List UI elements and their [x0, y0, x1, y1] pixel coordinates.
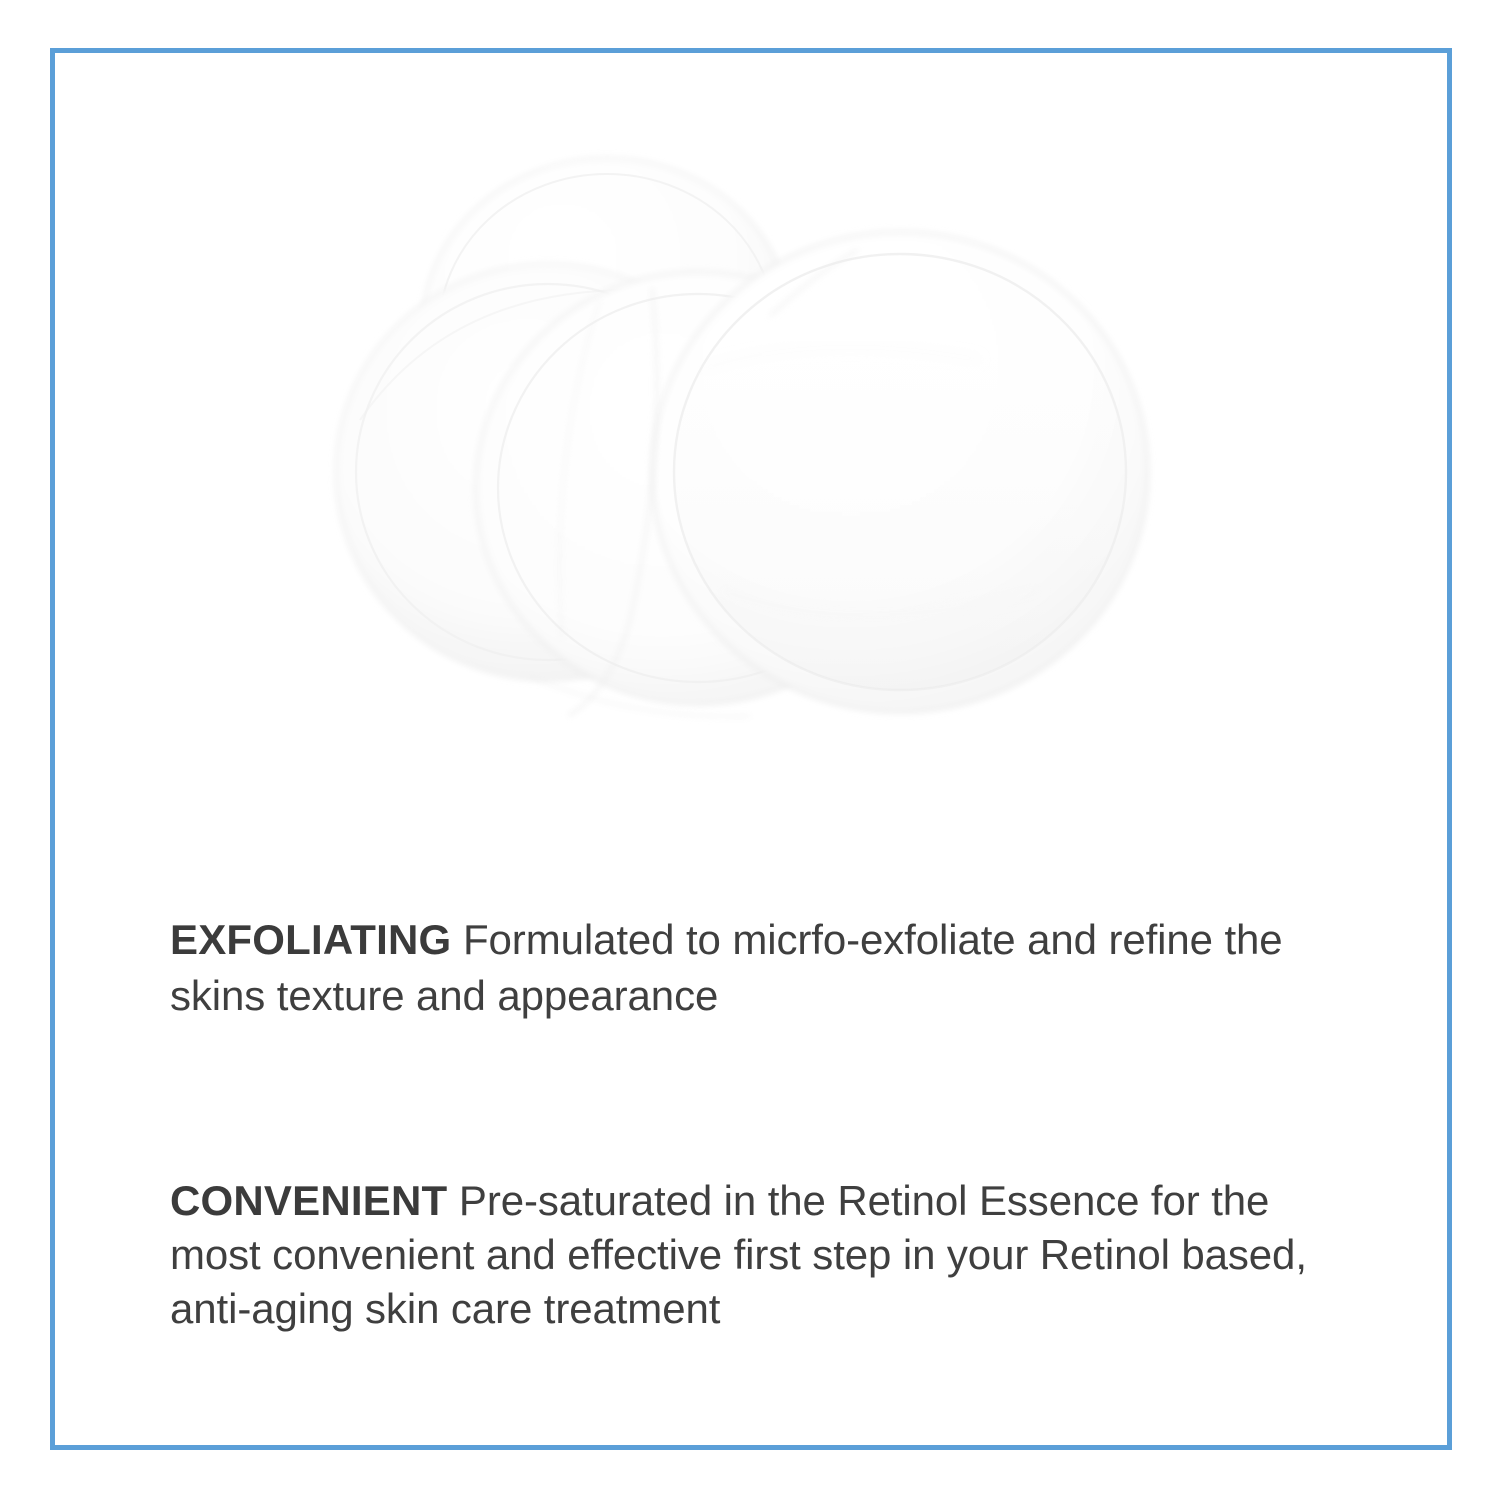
feature-paragraph-convenient: CONVENIENT Pre-saturated in the Retinol …	[170, 1174, 1340, 1336]
feature-label-exfoliating: EXFOLIATING	[170, 916, 451, 963]
cotton-pad-front-right	[652, 232, 1148, 712]
product-image-cotton-pads	[300, 120, 1200, 780]
product-feature-graphic: EXFOLIATING Formulated to micrfo-exfolia…	[0, 0, 1500, 1500]
feature-text-block: EXFOLIATING Formulated to micrfo-exfolia…	[170, 912, 1340, 1336]
feature-paragraph-exfoliating: EXFOLIATING Formulated to micrfo-exfolia…	[170, 912, 1340, 1024]
feature-label-convenient: CONVENIENT	[170, 1177, 447, 1224]
